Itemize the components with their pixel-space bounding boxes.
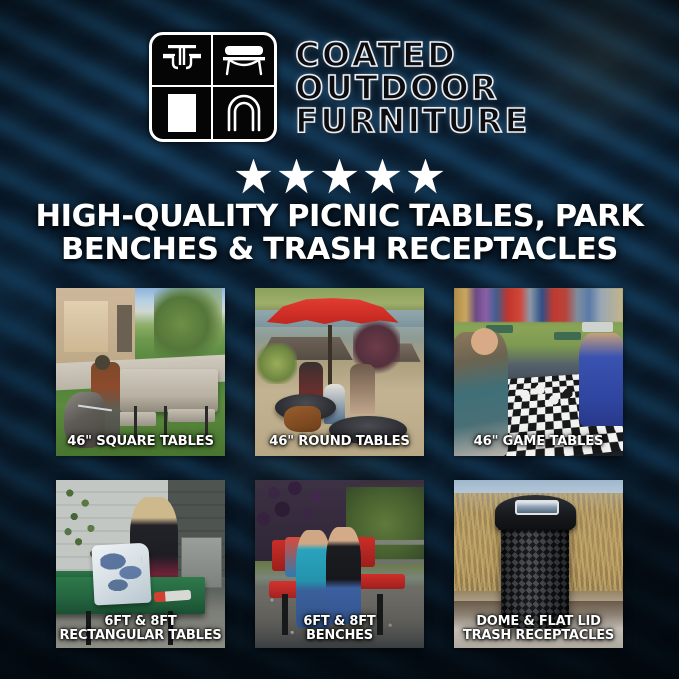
- trash-receptacle-icon: [152, 87, 213, 139]
- bike-rack-icon: [213, 87, 274, 139]
- brand-line-3: FURNITURE: [295, 105, 529, 137]
- bench-icon: [213, 35, 274, 87]
- star-icon: [322, 159, 358, 194]
- tile-caption: 46" GAME TABLES: [456, 435, 621, 449]
- tile-caption: 6FT & 8FT BENCHES: [257, 615, 422, 643]
- star-icon: [236, 159, 272, 194]
- poster-canvas: COATED OUTDOOR FURNITURE HIGH-QUALITY PI…: [0, 0, 679, 679]
- headline-line-2: BENCHES & TRASH RECEPTACLES: [24, 233, 655, 266]
- headline-line-1: HIGH-QUALITY PICNIC TABLES, PARK: [24, 200, 655, 233]
- star-icon: [279, 159, 315, 194]
- star-icon: [365, 159, 401, 194]
- product-photo: [56, 288, 225, 456]
- star-rating: [0, 155, 679, 197]
- product-tile-grid: 46" SQUARE TABLES 46" ROUND TABLES: [56, 288, 623, 648]
- product-tile-square-tables[interactable]: 46" SQUARE TABLES: [56, 288, 225, 456]
- tile-caption: 46" SQUARE TABLES: [58, 435, 223, 449]
- tile-caption: DOME & FLAT LID TRASH RECEPTACLES: [456, 615, 621, 643]
- product-photo: [255, 288, 424, 456]
- brand-wordmark: COATED OUTDOOR FURNITURE: [295, 37, 529, 138]
- tile-caption: 46" ROUND TABLES: [257, 435, 422, 449]
- product-tile-benches[interactable]: 6FT & 8FT BENCHES: [255, 480, 424, 648]
- brand-line-1: COATED: [295, 39, 457, 71]
- picnic-table-icon: [152, 35, 213, 87]
- product-tile-game-tables[interactable]: 46" GAME TABLES: [454, 288, 623, 456]
- poster-content: COATED OUTDOOR FURNITURE HIGH-QUALITY PI…: [0, 0, 679, 679]
- product-photo: [454, 288, 623, 456]
- logo-icon-grid: [149, 32, 277, 142]
- star-icon: [408, 159, 444, 194]
- product-tile-trash-receptacles[interactable]: DOME & FLAT LID TRASH RECEPTACLES: [454, 480, 623, 648]
- headline: HIGH-QUALITY PICNIC TABLES, PARK BENCHES…: [24, 200, 655, 266]
- product-tile-rectangular-tables[interactable]: 6FT & 8FT RECTANGULAR TABLES: [56, 480, 225, 648]
- tile-caption: 6FT & 8FT RECTANGULAR TABLES: [58, 615, 223, 643]
- brand-line-2: OUTDOOR: [295, 72, 499, 104]
- product-tile-round-tables[interactable]: 46" ROUND TABLES: [255, 288, 424, 456]
- brand-logo: COATED OUTDOOR FURNITURE: [0, 26, 679, 148]
